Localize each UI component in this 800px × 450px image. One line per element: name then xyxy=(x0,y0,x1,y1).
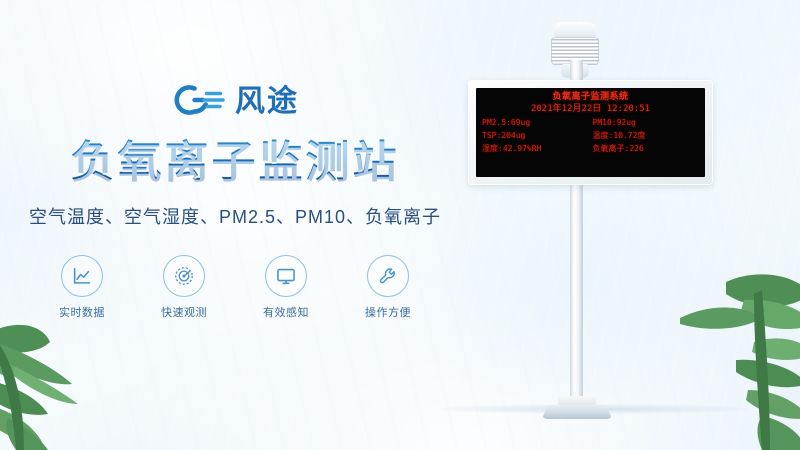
feature-label: 快速观测 xyxy=(146,304,222,320)
feature-label: 有效感知 xyxy=(248,304,324,320)
led-display-bezel: 负氧离子监测系统 2021年12月22日 12:20:51 PM2.5:69ug… xyxy=(468,80,713,185)
marketing-text-block: 风途 负氧离子监测站 空气温度、空气湿度、PM2.5、PM10、负氧离子 实时数… xyxy=(0,80,470,320)
monitor-screen-icon xyxy=(265,255,307,297)
feature-label: 实时数据 xyxy=(44,304,120,320)
reading-pm25: PM2.5:69ug xyxy=(482,117,589,129)
led-display-panel: 负氧离子监测系统 2021年12月22日 12:20:51 PM2.5:69ug… xyxy=(476,88,705,177)
fengtu-wind-g-logo-icon xyxy=(171,83,225,122)
reading-humidity: 湿度:42.97%RH xyxy=(482,143,589,155)
feature-item-effective-sensing: 有效感知 xyxy=(248,255,324,320)
feature-item-fast-observation: 快速观测 xyxy=(146,255,222,320)
reading-temperature: 温度:10.72度 xyxy=(593,130,700,142)
feature-label: 操作方便 xyxy=(350,304,426,320)
sensor-cap xyxy=(554,22,596,38)
subtitle-parameters: 空气温度、空气湿度、PM2.5、PM10、负氧离子 xyxy=(0,203,470,229)
monitoring-station: 负氧离子监测系统 2021年12月22日 12:20:51 PM2.5:69ug… xyxy=(430,0,800,450)
led-display-datetime: 2021年12月22日 12:20:51 xyxy=(482,103,699,115)
wrench-icon xyxy=(367,255,409,297)
reading-tsp: TSP:204ug xyxy=(482,130,589,142)
led-readings-grid: PM2.5:69ug PM10:92ug TSP:204ug 温度:10.72度… xyxy=(482,117,699,154)
reading-negative-ion: 负氧离子:226 xyxy=(593,143,700,155)
page-title: 负氧离子监测站 xyxy=(0,138,470,187)
brand-logo: 风途 xyxy=(0,80,470,124)
line-chart-icon xyxy=(61,255,103,297)
reading-pm10: PM10:92ug xyxy=(593,117,700,129)
led-display-title: 负氧离子监测系统 xyxy=(482,92,699,103)
feature-list: 实时数据 快速观测 xyxy=(0,255,470,320)
feature-item-realtime-data: 实时数据 xyxy=(44,255,120,320)
feature-item-easy-operation: 操作方便 xyxy=(350,255,426,320)
brand-name: 风途 xyxy=(235,87,299,117)
radar-signal-icon xyxy=(163,255,205,297)
pole-base-flange-icon xyxy=(542,405,612,419)
promo-banner: 风途 负氧离子监测站 空气温度、空气湿度、PM2.5、PM10、负氧离子 实时数… xyxy=(0,0,800,450)
